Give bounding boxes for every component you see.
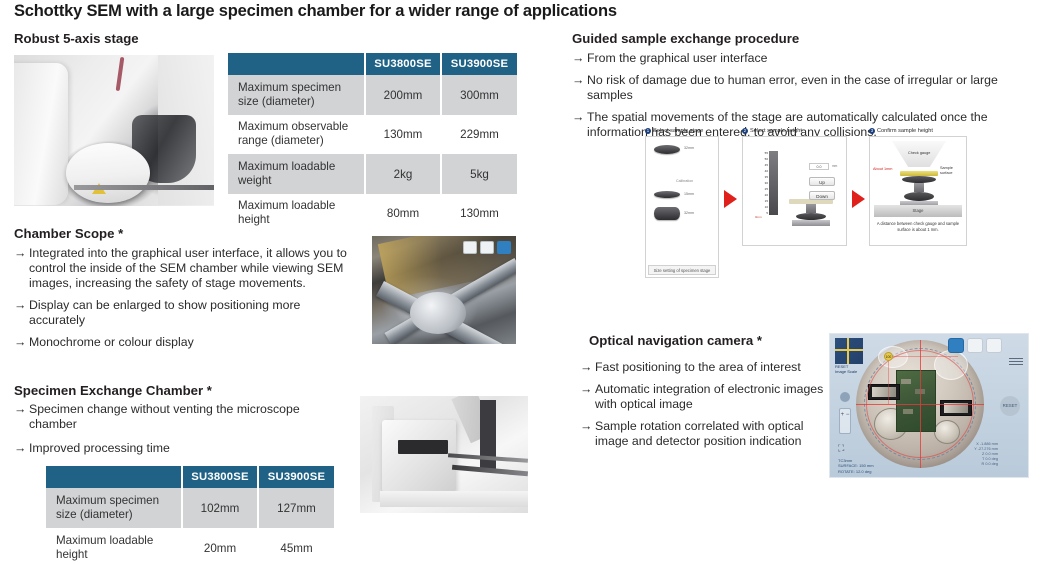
height-ruler-bar (769, 151, 778, 215)
table-header-su3900se: SU3900SE (258, 466, 334, 488)
ruler-tick: 15 (765, 199, 768, 203)
panel-caption-text: Confirm sample height (877, 128, 933, 134)
toolbar-icon-camera[interactable] (463, 241, 477, 254)
stage-option-label: 32mm (684, 211, 694, 215)
row-value-su3800se: 80mm (365, 194, 441, 233)
stage-post (806, 204, 816, 213)
ruler-tick: 5 (766, 211, 768, 215)
height-ruler-ticks: 55 50 45 40 35 30 25 20 15 10 5 (755, 151, 768, 215)
stage-rail (74, 185, 214, 190)
row-value-su3800se: 20mm (182, 528, 258, 564)
section-heading-robust-stage: Robust 5-axis stage (14, 31, 139, 46)
stack-disc-mid (904, 192, 934, 201)
chamber-scope-toolbar[interactable] (463, 241, 511, 254)
stage-puck-icon (654, 191, 680, 198)
table-header-row: SU3800SE SU3900SE (228, 53, 517, 75)
list-item-text: Automatic integration of electronic imag… (595, 382, 830, 412)
coordinate-readout: X -1.886 mm Y -27.276 mm Z 0.0 mm T 0.0 … (974, 442, 998, 467)
status-readout: TC3mm SURFACE: 150 mm ROTATE: 12.0 deg (838, 458, 874, 474)
diagram-panel-select-sample-height: 2 Select sample height 55 50 45 40 35 30… (742, 128, 847, 246)
ruler-tick: 25 (765, 187, 768, 191)
panel-body: 32mm Calibration 15mm 32mm Size setting … (645, 136, 719, 278)
arrow-icon: → (580, 360, 595, 375)
zoom-control[interactable]: + − (839, 408, 851, 434)
row-value-su3900se: 127mm (258, 488, 334, 528)
list-item-text: Sample rotation correlated with optical … (595, 419, 830, 449)
list-item: → Integrated into the graphical user int… (14, 246, 359, 291)
ruler-tick: 55 (765, 151, 768, 155)
list-item: → No risk of damage due to human error, … (572, 73, 1042, 103)
table-header-row: SU3800SE SU3900SE (46, 466, 334, 488)
list-item-text: Display can be enlarged to show position… (29, 298, 359, 328)
table-header-blank (46, 466, 182, 488)
marker-badge[interactable]: 100 (884, 352, 893, 361)
panel-caption: 2 Select sample height (742, 128, 847, 134)
arrow-icon: → (572, 110, 587, 125)
panel-caption: 3 Confirm sample height (869, 128, 967, 134)
zoom-out-button[interactable]: − (846, 412, 850, 418)
panel-note-text: A distance between check gauge and sampl… (873, 221, 963, 232)
table-header-blank (228, 53, 365, 75)
list-item-text: Monochrome or colour display (29, 335, 359, 350)
coord-r: R 0.0 deg (982, 462, 998, 466)
row-value-su3900se: 229mm (441, 115, 517, 154)
ruler-zero-label: 0mm (755, 215, 762, 219)
row-value-su3800se: 200mm (365, 75, 441, 115)
section-heading-guided-exchange: Guided sample exchange procedure (572, 31, 799, 46)
list-item: → Fast positioning to the area of intere… (580, 360, 830, 375)
stage-option-label: 15mm (684, 192, 694, 196)
row-value-su3800se: 102mm (182, 488, 258, 528)
diagram-panel-confirm-sample-height: 3 Confirm sample height Check gauge Abou… (869, 128, 967, 246)
list-item: → Display can be enlarged to show positi… (14, 298, 359, 328)
row-label: Maximum loadable weight (228, 154, 365, 194)
arrow-icon: → (572, 73, 587, 88)
stage-option-label: 32mm (684, 146, 694, 150)
row-label: Maximum specimen size (diameter) (228, 75, 365, 115)
list-item-text: No risk of damage due to human error, ev… (587, 73, 1042, 103)
ruler-tick: 30 (765, 181, 768, 185)
stack-post (914, 183, 924, 192)
ruler-tick: 45 (765, 163, 768, 167)
table-row: Maximum loadable weight 2kg 5kg (228, 154, 517, 194)
stack-disc-top (902, 176, 936, 183)
stage-graphic (789, 199, 833, 226)
coord-y: Y -27.276 mm (974, 447, 998, 451)
spec-table-stage: SU3800SE SU3900SE Maximum specimen size … (228, 53, 517, 233)
distance-label: About 1mm (873, 167, 892, 171)
table-row: Maximum loadable height 80mm 130mm (228, 194, 517, 233)
stage-puck-icon (654, 145, 680, 154)
toolbar-icon-view-selected[interactable] (497, 241, 511, 254)
row-value-su3900se: 300mm (441, 75, 517, 115)
arrow-icon: → (572, 51, 587, 66)
section-heading-specimen-exchange: Specimen Exchange Chamber * (14, 383, 212, 398)
image-scale-reset-button[interactable] (835, 338, 863, 364)
coord-t: T 0.0 deg (982, 457, 998, 461)
row-value-su3900se: 5kg (441, 154, 517, 194)
ruler-tick: 10 (765, 205, 768, 209)
bullet-list-specimen-exchange: → Specimen change without venting the mi… (14, 402, 334, 463)
row-value-su3900se: 130mm (441, 194, 517, 233)
table-row: Maximum specimen size (diameter) 102mm 1… (46, 488, 334, 528)
arrow-icon: → (14, 246, 29, 261)
photo-specimen-exchange-chamber (360, 396, 528, 513)
toolbar-icon-measure[interactable] (967, 338, 983, 353)
arrow-icon: → (14, 298, 29, 313)
arrow-icon: → (580, 419, 595, 434)
slide-page: Schottky SEM with a large specimen chamb… (0, 0, 1046, 564)
check-gauge-label: Check gauge (908, 151, 930, 155)
panel-caption-text: Select sample stage (653, 128, 703, 134)
exchange-main-module (382, 420, 456, 492)
section-heading-optical-nav: Optical navigation camera * (589, 333, 762, 348)
exchange-window-slot (398, 440, 448, 454)
photo-chamber-scope (372, 236, 516, 344)
sample-surface-label: Sample surface (940, 166, 966, 176)
list-item: → Monochrome or colour display (14, 335, 359, 350)
list-item-text: From the graphical user interface (587, 51, 1042, 66)
diagram-panel-select-sample-stage: 1 Select sample stage 32mm Calibration 1… (645, 128, 719, 278)
step-number-badge: 2 (742, 128, 748, 134)
table-header-su3800se: SU3800SE (182, 466, 258, 488)
list-item: → Improved processing time (14, 441, 334, 456)
table-header-su3800se: SU3800SE (365, 53, 441, 75)
toolbar-icon-camera-selected[interactable] (948, 338, 964, 353)
zoom-in-button[interactable]: + (841, 412, 845, 418)
down-button[interactable]: Down (809, 191, 835, 200)
stage-base (792, 220, 830, 226)
bullet-list-chamber-scope: → Integrated into the graphical user int… (14, 246, 359, 357)
row-value-su3900se: 45mm (258, 528, 334, 564)
list-item: → From the graphical user interface (572, 51, 1042, 66)
stage-stack-graphic (898, 176, 940, 207)
expand-icon[interactable]: ⛶ (838, 442, 852, 454)
stage-option-1[interactable]: 32mm (654, 145, 680, 154)
row-label: Maximum specimen size (diameter) (46, 488, 182, 528)
stage-bar-label: Stage (874, 205, 962, 217)
toolbar-icon-light[interactable] (480, 241, 494, 254)
arrow-icon: → (14, 335, 29, 350)
stage-puck-icon (654, 207, 680, 220)
bullet-list-optical-nav: → Fast positioning to the area of intere… (580, 360, 830, 456)
stage-disc (796, 213, 826, 220)
row-label: Maximum loadable height (46, 528, 182, 564)
reset-sub-label: Image Scale (835, 369, 857, 374)
status-line-3: ROTATE: 12.0 deg (838, 469, 871, 474)
list-item-text: Specimen change without venting the micr… (29, 402, 334, 432)
coord-x: X -1.886 mm (976, 442, 998, 446)
list-item-text: Integrated into the graphical user inter… (29, 246, 359, 291)
table-row: Maximum specimen size (diameter) 200mm 3… (228, 75, 517, 115)
row-value-su3800se: 130mm (365, 115, 441, 154)
ruler-tick: 20 (765, 193, 768, 197)
ruler-tick: 35 (765, 175, 768, 179)
ruler-tick: 40 (765, 169, 768, 173)
height-value-field[interactable]: 0.0 (809, 163, 829, 170)
status-line-2: SURFACE: 150 mm (838, 463, 874, 468)
table-row: Maximum loadable height 20mm 45mm (46, 528, 334, 564)
screenshot-optical-navigation: RESET Image Scale 100 + − ⛶ RESET TC3mm … (829, 333, 1029, 478)
photo-five-axis-stage (14, 55, 214, 206)
status-line-1: TC3mm (838, 458, 852, 463)
list-item: → Specimen change without venting the mi… (14, 402, 334, 432)
toolbar-icon-detector[interactable] (986, 338, 1002, 353)
optical-nav-toolbar[interactable] (948, 338, 1002, 353)
calibration-label: Calibration (676, 179, 693, 183)
panel-footer-label: Size setting of specimen stage (648, 265, 716, 275)
panel-caption: 1 Select sample stage (645, 128, 719, 134)
list-item: → Automatic integration of electronic im… (580, 382, 830, 412)
table-row: Maximum observable range (diameter) 130m… (228, 115, 517, 154)
row-label: Maximum observable range (diameter) (228, 115, 365, 154)
stage-specimen-disc (66, 143, 150, 203)
panel-body: 55 50 45 40 35 30 25 20 15 10 5 0mm (742, 136, 847, 246)
image-scale-label: RESET Image Scale (835, 364, 857, 374)
ruler-tick: 50 (765, 157, 768, 161)
spec-table-specimen-exchange: SU3800SE SU3900SE Maximum specimen size … (46, 466, 334, 564)
arrow-icon: → (14, 402, 29, 417)
exchange-dark-module (480, 400, 496, 472)
list-item: → Sample rotation correlated with optica… (580, 419, 830, 449)
row-label: Maximum loadable height (228, 194, 365, 233)
flow-arrow-icon-1 (724, 190, 737, 208)
height-unit-label: mm (832, 164, 837, 168)
step-number-badge: 1 (645, 128, 651, 134)
pointer-tool-icon[interactable] (840, 392, 850, 402)
panel-body: Check gauge About 1mm Sample surface Sta… (869, 136, 967, 246)
section-heading-chamber-scope: Chamber Scope * (14, 226, 123, 241)
list-item-text: Improved processing time (29, 441, 334, 456)
list-item-text: Fast positioning to the area of interest (595, 360, 830, 375)
row-value-su3800se: 2kg (365, 154, 441, 194)
panel-caption-text: Select sample height (750, 128, 802, 134)
chamber-specimen-dome (410, 292, 466, 334)
stage-option-2[interactable]: 15mm (654, 191, 680, 198)
arrow-icon: → (580, 382, 595, 397)
table-header-su3900se: SU3900SE (441, 53, 517, 75)
exchange-base (380, 491, 528, 507)
arrow-icon: → (14, 441, 29, 456)
coord-z: Z 0.0 mm (982, 452, 998, 456)
menu-hamburger-icon[interactable] (1009, 358, 1023, 367)
flow-arrow-icon-2 (852, 190, 865, 208)
page-title: Schottky SEM with a large specimen chamb… (14, 2, 617, 21)
rotation-ring (866, 350, 974, 458)
stage-reset-button[interactable]: RESET (1000, 396, 1020, 416)
diagram-guided-exchange: 1 Select sample stage 32mm Calibration 1… (645, 128, 945, 288)
stage-cable (116, 57, 125, 91)
up-button[interactable]: Up (809, 177, 835, 186)
stage-housing-left (14, 63, 68, 205)
stage-option-3[interactable]: 32mm (654, 207, 680, 220)
step-number-badge: 3 (869, 128, 875, 134)
